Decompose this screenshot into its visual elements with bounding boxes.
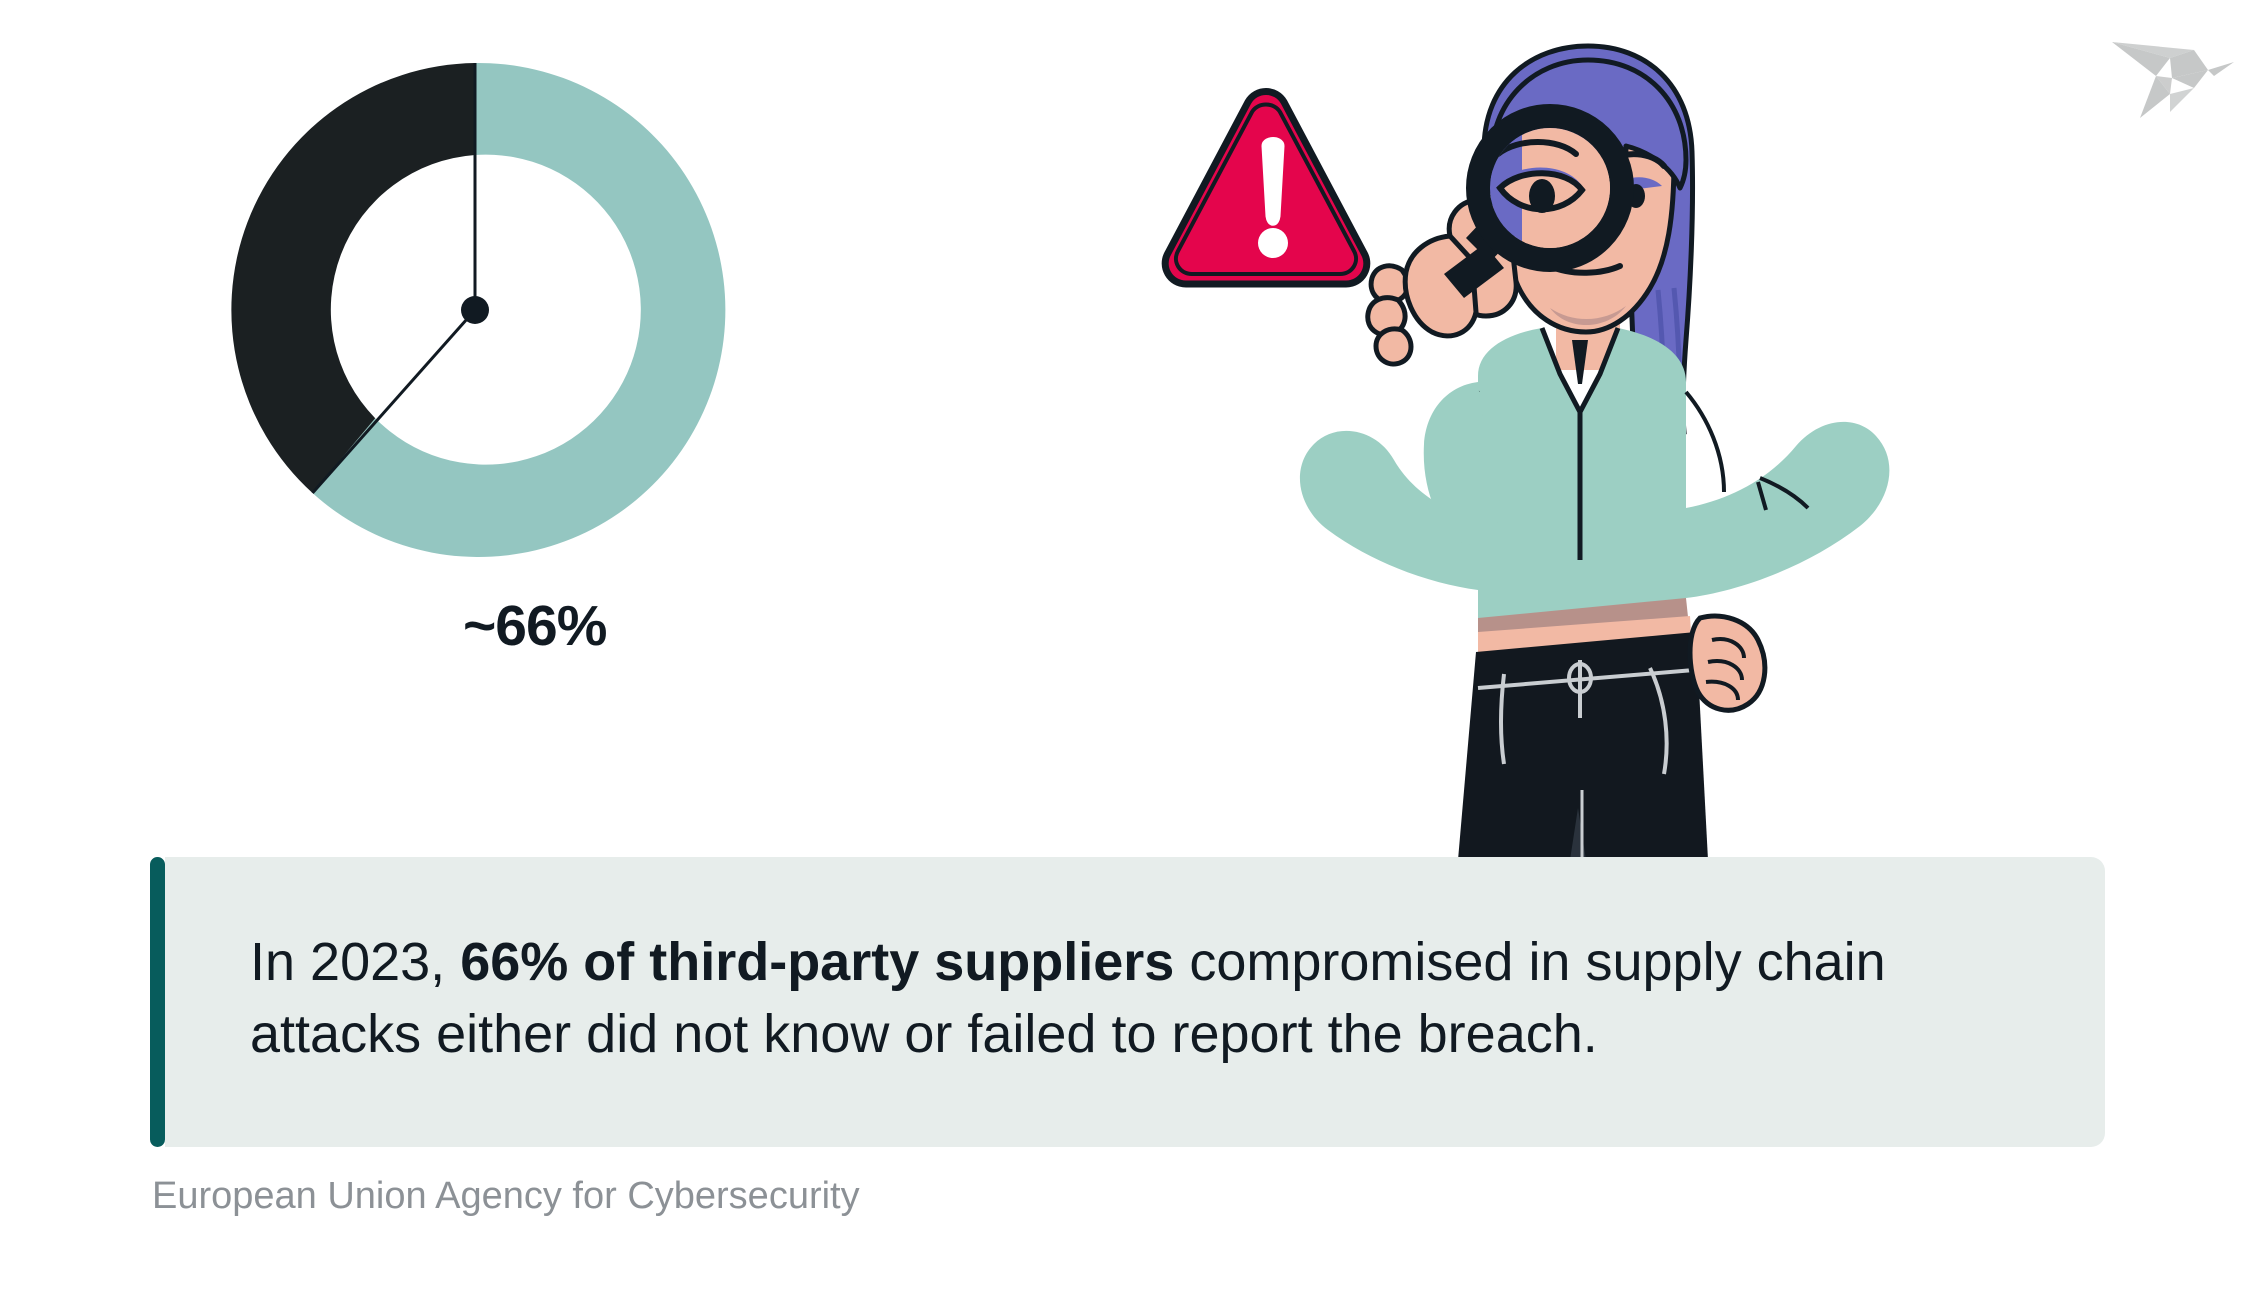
callout-lead: In 2023,	[250, 932, 460, 992]
investigator-character	[1300, 46, 1889, 860]
donut-chart: ~66%	[215, 50, 735, 570]
investigator-illustration	[1080, 40, 1960, 860]
center-pivot-dot	[461, 296, 489, 324]
callout-highlight: 66% of third-party suppliers	[460, 932, 1174, 992]
origami-bird-logo	[2110, 14, 2240, 126]
donut-segment-dark	[231, 63, 475, 493]
source-attribution: European Union Agency for Cybersecurity	[152, 1175, 860, 1218]
callout-box: In 2023, 66% of third-party suppliers co…	[150, 857, 2105, 1147]
warning-triangle-icon	[1165, 92, 1367, 285]
jacket	[1300, 328, 1889, 632]
callout-accent-bar	[150, 857, 165, 1147]
infographic-canvas: { "chart_data": { "type": "pie", "title"…	[0, 0, 2250, 1310]
callout-statement: In 2023, 66% of third-party suppliers co…	[250, 927, 2010, 1071]
donut-center-label: ~66%	[463, 593, 606, 659]
